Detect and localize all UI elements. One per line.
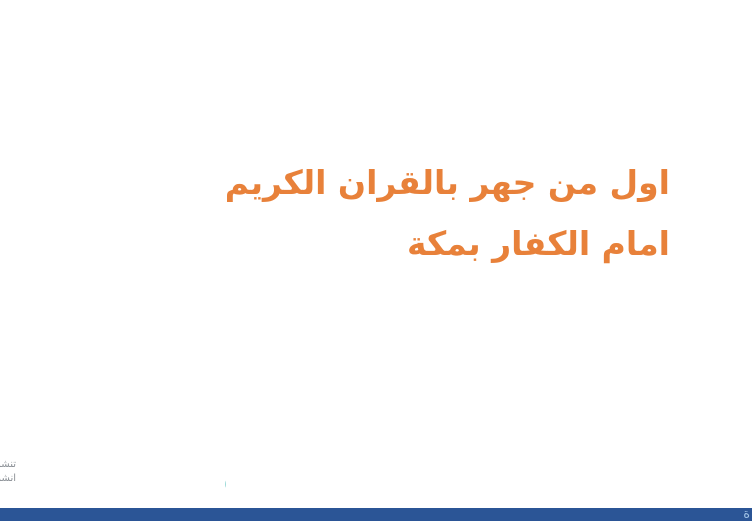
edge-text-line-1: تنشر <box>0 458 16 471</box>
bottom-bar-mark: ة <box>728 508 750 521</box>
edge-text-line-2: انشر <box>0 472 16 485</box>
logo-wordmark: موسوعة <box>222 435 226 509</box>
site-logo: موسوعة <box>0 427 226 511</box>
bottom-bar: ة <box>0 508 752 521</box>
page-title: اول من جهر بالقران الكريم امام الكفار بم… <box>170 152 670 274</box>
mawsoa-logo-icon: موسوعة <box>0 427 226 511</box>
slide-canvas: اول من جهر بالقران الكريم امام الكفار بم… <box>0 0 752 521</box>
